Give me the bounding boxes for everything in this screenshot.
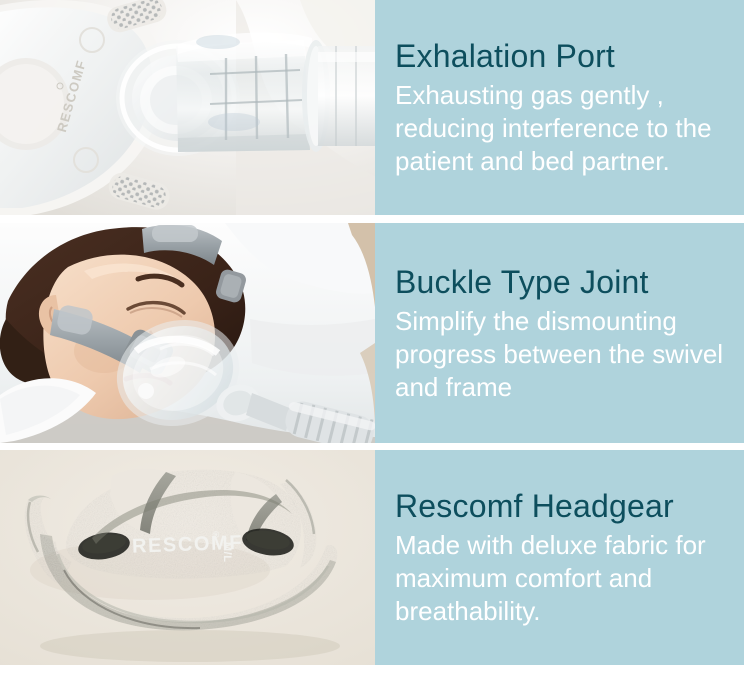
feature-text-exhalation-port: Exhalation Port Exhausting gas gently , … — [375, 0, 744, 215]
feature-row-exhalation-port: RESCOMF — [0, 0, 744, 215]
feature-description: Exhausting gas gently , reducing interfe… — [395, 79, 726, 178]
woman-sleeping-wearing-cpap-mask-photo — [0, 223, 375, 443]
feature-title: Exhalation Port — [395, 37, 726, 75]
feature-text-rescomf-headgear: Rescomf Headgear Made with deluxe fabric… — [375, 450, 744, 665]
feature-text-buckle-type-joint: Buckle Type Joint Simplify the dismounti… — [375, 223, 744, 443]
feature-title: Rescomf Headgear — [395, 487, 726, 525]
product-feature-infographic: RESCOMF — [0, 0, 749, 679]
feature-row-rescomf-headgear: RESCOMF ® M/L Rescomf Headgear Made with… — [0, 450, 744, 665]
headgear-registered-mark: ® — [212, 530, 219, 540]
headgear-size-label: M/L — [221, 542, 233, 562]
feature-title: Buckle Type Joint — [395, 263, 726, 301]
clear-cpap-mask-exhalation-port-photo: RESCOMF — [0, 0, 375, 215]
feature-row-buckle-type-joint: Buckle Type Joint Simplify the dismounti… — [0, 223, 744, 443]
feature-description: Made with deluxe fabric for maximum comf… — [395, 529, 726, 628]
rescomf-headgear-product-photo: RESCOMF ® M/L — [0, 450, 375, 665]
feature-description: Simplify the dismounting progress betwee… — [395, 305, 726, 404]
